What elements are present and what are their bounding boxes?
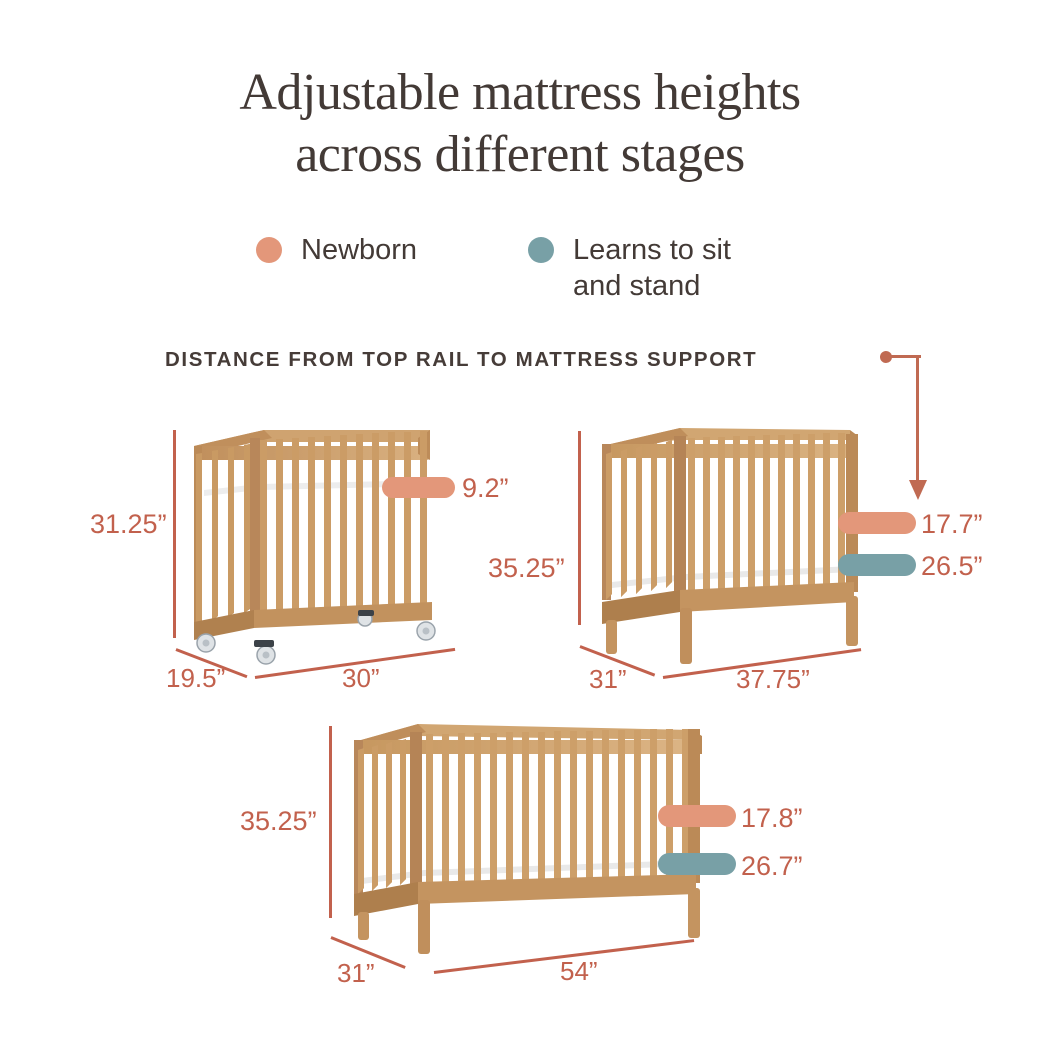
crib3-depth-label: 31”: [337, 958, 375, 989]
infographic-page: Adjustable mattress heights across diffe…: [0, 0, 1040, 1040]
page-title-line-1: Adjustable mattress heights: [239, 64, 800, 121]
crib3-measure-label-newborn: 17.8”: [741, 803, 803, 834]
legend-item-sit-and-stand: Learns to sit and stand: [528, 232, 731, 304]
crib3-measure-pill-newborn: [658, 805, 736, 827]
crib1-measure-pill-newborn: [382, 477, 455, 498]
crib-mini-casters-svg: [182, 424, 450, 674]
crib2-height-rule: [578, 431, 581, 625]
legend-label-sit-and-stand: Learns to sit and stand: [573, 232, 731, 304]
crib2-measure-label-newborn: 17.7”: [921, 509, 983, 540]
crib1-height-label: 31.25”: [90, 509, 167, 540]
page-title: Adjustable mattress heights across diffe…: [0, 62, 1040, 186]
legend-dot-sit-and-stand-icon: [528, 237, 554, 263]
legend-label-newborn: Newborn: [301, 232, 417, 268]
crib2-measure-pill-sit-and-stand: [838, 554, 916, 576]
legend-item-newborn: Newborn: [256, 232, 417, 268]
crib2-width-label: 37.75”: [736, 664, 810, 695]
crib-full-size-svg: [340, 718, 720, 968]
crib2-measure-pill-newborn: [838, 512, 916, 534]
crib1-width-label: 30”: [342, 663, 380, 694]
crib-illustration-mini-casters: [182, 424, 450, 674]
subheading: DISTANCE FROM TOP RAIL TO MATTRESS SUPPO…: [165, 348, 757, 372]
pointer-line-vertical: [916, 355, 919, 483]
crib3-height-label: 35.25”: [240, 806, 317, 837]
crib-illustration-mini-legs: [588, 424, 878, 674]
page-title-line-2: across different stages: [0, 124, 1040, 186]
crib1-measure-label-newborn: 9.2”: [462, 473, 509, 504]
crib2-measure-label-sit-and-stand: 26.5”: [921, 551, 983, 582]
crib3-measure-label-sit-and-stand: 26.7”: [741, 851, 803, 882]
crib-mini-legs-svg: [588, 424, 878, 674]
pointer-arrowhead-icon: [909, 480, 927, 500]
crib3-height-rule: [329, 726, 332, 918]
crib2-depth-label: 31”: [589, 664, 627, 695]
crib-illustration-full-size: [340, 718, 720, 968]
legend-dot-newborn-icon: [256, 237, 282, 263]
crib3-width-label: 54”: [560, 956, 598, 987]
crib2-height-label: 35.25”: [488, 553, 565, 584]
crib1-depth-label: 19.5”: [166, 663, 225, 694]
crib1-height-rule: [173, 430, 176, 638]
crib3-measure-pill-sit-and-stand: [658, 853, 736, 875]
